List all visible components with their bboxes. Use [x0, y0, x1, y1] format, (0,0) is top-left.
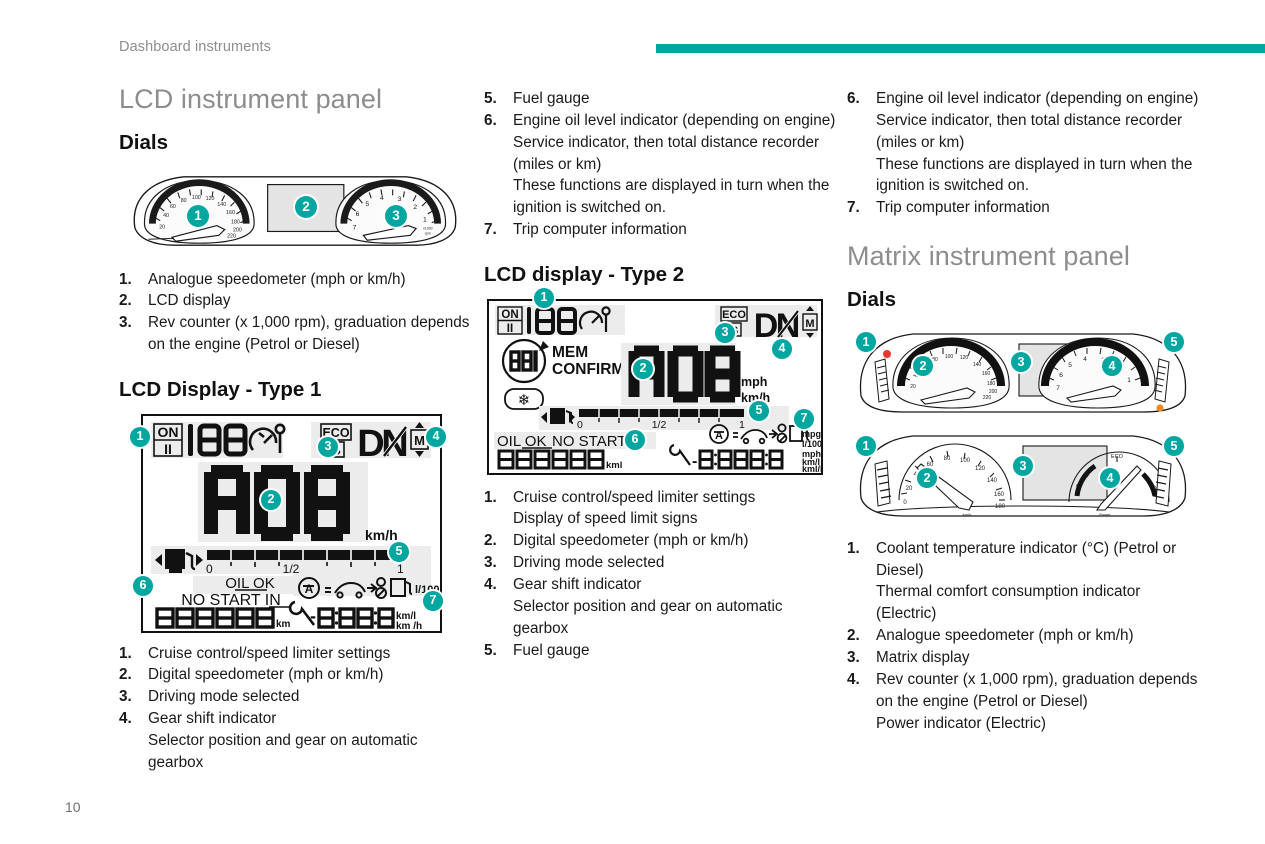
svg-text:160: 160: [994, 492, 1005, 498]
list-text: Engine oil level indicator (depending on…: [876, 90, 1198, 107]
list-item: 5. Fuel gauge: [484, 640, 836, 662]
svg-text:20: 20: [159, 224, 165, 230]
svg-text:140: 140: [217, 202, 226, 208]
heading-lcd-display-type-1: LCD Display - Type 1: [119, 378, 471, 402]
svg-text:km: km: [276, 619, 291, 630]
list-lcd-type-1-continued: 5. Fuel gauge 6. Engine oil level indica…: [484, 88, 836, 241]
callout-1: 1: [534, 288, 554, 308]
svg-text:Power: Power: [1099, 512, 1111, 517]
list-lcd-type-2-continued: 6. Engine oil level indicator (depending…: [847, 88, 1199, 219]
svg-text:120: 120: [975, 466, 986, 472]
callout-5: 5: [389, 542, 409, 562]
list-number: 5.: [484, 640, 506, 662]
svg-text:120: 120: [206, 196, 215, 202]
callout-5: 5: [749, 401, 769, 421]
svg-text:mpg: mpg: [802, 429, 821, 439]
svg-text:5: 5: [1068, 362, 1072, 369]
svg-text:160: 160: [982, 371, 991, 377]
list-text: Trip computer information: [876, 199, 1050, 216]
callout-2: 2: [913, 356, 933, 376]
list-number: 1.: [847, 538, 869, 560]
svg-text:100: 100: [945, 354, 954, 360]
callout-1: 1: [856, 332, 876, 352]
svg-text:D: D: [754, 307, 779, 345]
list-text: Driving mode selected: [513, 554, 664, 571]
svg-text:-: -: [310, 606, 316, 626]
svg-text:180: 180: [987, 381, 996, 387]
list-item: 6. Engine oil level indicator (depending…: [484, 110, 836, 219]
list-subtext: Thermal comfort consumption indicator (E…: [876, 581, 1199, 625]
svg-text:mph: mph: [741, 375, 767, 389]
svg-text:3: 3: [398, 196, 402, 203]
svg-text:7: 7: [353, 224, 357, 231]
list-text: Cruise control/speed limiter settings: [513, 489, 755, 506]
list-text: Fuel gauge: [513, 90, 590, 107]
figure-lcd-type-1: ON II: [141, 414, 438, 629]
svg-text:60: 60: [170, 204, 176, 210]
list-item: 3. Rev counter (x 1,000 rpm), graduation…: [119, 312, 471, 356]
list-lcd-type-2: 1. Cruise control/speed limiter settings…: [484, 487, 836, 662]
svg-text:II: II: [507, 323, 513, 335]
svg-text:20: 20: [906, 486, 913, 492]
svg-text:1: 1: [1127, 377, 1131, 384]
list-item: 7. Trip computer information: [484, 219, 836, 241]
list-item: 3. Matrix display: [847, 647, 1199, 669]
list-text: Analogue speedometer (mph or km/h): [148, 271, 406, 288]
svg-text:km /h: km /h: [396, 621, 422, 631]
list-number: 6.: [847, 88, 869, 110]
svg-text:180: 180: [995, 504, 1006, 510]
list-item: 3. Driving mode selected: [119, 686, 471, 708]
svg-text:CONFIRM: CONFIRM: [552, 361, 624, 378]
header-accent-bar: [656, 44, 1265, 53]
svg-text:A: A: [715, 430, 723, 442]
list-item: 3. Driving mode selected: [484, 552, 836, 574]
svg-text:6: 6: [356, 210, 360, 217]
list-subtext: Service indicator, then total distance r…: [876, 110, 1199, 154]
list-number: 5.: [484, 88, 506, 110]
document-page: Dashboard instruments LCD instrument pan…: [0, 0, 1265, 844]
callout-4: 4: [772, 339, 792, 359]
column-3: 6. Engine oil level indicator (depending…: [847, 84, 1199, 735]
svg-text:x1000: x1000: [423, 226, 433, 230]
page-title: LCD instrument panel: [119, 84, 471, 115]
list-subtext: Selector position and gear on automatic …: [148, 730, 471, 774]
callout-3: 3: [385, 205, 407, 227]
heading-dials: Dials: [119, 131, 471, 155]
svg-text:1: 1: [423, 216, 427, 223]
list-text: Digital speedometer (mph or km/h): [148, 666, 384, 683]
list-item: 6. Engine oil level indicator (depending…: [847, 88, 1199, 197]
list-item: 2. Analogue speedometer (mph or km/h): [847, 625, 1199, 647]
list-text: Trip computer information: [513, 221, 687, 238]
callout-2: 2: [633, 359, 653, 379]
list-number: 6.: [484, 110, 506, 132]
list-item: 1. Analogue speedometer (mph or km/h): [119, 269, 471, 291]
list-number: 1.: [119, 269, 141, 291]
list-text: Matrix display: [876, 649, 970, 666]
list-number: 7.: [847, 197, 869, 219]
list-number: 3.: [119, 686, 141, 708]
svg-text:40: 40: [163, 212, 169, 218]
svg-text:5: 5: [365, 201, 369, 208]
list-text: Rev counter (x 1,000 rpm), graduation de…: [148, 314, 469, 353]
list-subtext: Display of speed limit signs: [513, 508, 836, 530]
heading-matrix-dials: Dials: [847, 288, 1199, 312]
list-item: 4. Gear shift indicator Selector positio…: [119, 708, 471, 774]
svg-text:ECO: ECO: [722, 309, 746, 321]
column-1: LCD instrument panel Dials: [119, 84, 471, 774]
list-item: 2. Digital speedometer (mph or km/h): [119, 664, 471, 686]
list-text: Analogue speedometer (mph or km/h): [876, 627, 1134, 644]
list-item: 4. Rev counter (x 1,000 rpm), graduation…: [847, 669, 1199, 735]
svg-text:80: 80: [932, 357, 938, 363]
svg-text:kml/h: kml/h: [802, 464, 821, 473]
svg-text:4: 4: [380, 195, 384, 202]
callout-4: 4: [1100, 468, 1120, 488]
callout-2: 2: [917, 468, 937, 488]
svg-text:220: 220: [983, 395, 992, 401]
svg-text:NO START IN: NO START IN: [181, 592, 281, 609]
section-title-matrix: Matrix instrument panel: [847, 241, 1199, 272]
svg-text:80: 80: [944, 456, 951, 462]
lcd-type1-panel: ON II: [141, 414, 442, 633]
list-number: 2.: [119, 290, 141, 312]
callout-7: 7: [423, 591, 443, 611]
list-number: 2.: [847, 625, 869, 647]
svg-text:220: 220: [227, 233, 236, 239]
list-number: 7.: [484, 219, 506, 241]
list-subtext-2: These functions are displayed in turn wh…: [513, 175, 836, 219]
svg-text:1/2: 1/2: [283, 562, 300, 576]
lcd-type2-panel: ON II ECO: [487, 299, 823, 475]
list-text: Rev counter (x 1,000 rpm), graduation de…: [876, 671, 1197, 710]
list-item: 2. Digital speedometer (mph or km/h): [484, 530, 836, 552]
svg-text:7: 7: [1056, 385, 1060, 392]
svg-text:km/h: km/h: [963, 512, 972, 517]
callout-1: 1: [130, 427, 150, 447]
svg-text:ON: ON: [158, 424, 179, 440]
list-item: 1. Cruise control/speed limiter settings…: [484, 487, 836, 531]
list-text: Coolant temperature indicator (°C) (Petr…: [876, 540, 1176, 579]
list-number: 3.: [484, 552, 506, 574]
list-matrix-dials: 1. Coolant temperature indicator (°C) (P…: [847, 538, 1199, 735]
svg-text:0: 0: [206, 562, 213, 576]
svg-text:20: 20: [910, 384, 916, 390]
callout-4: 4: [426, 427, 446, 447]
figure-lcd-dials: 204060 80100120 140160180 200220: [119, 167, 471, 253]
svg-text:60: 60: [927, 462, 934, 468]
figure-lcd-type-2: ON II ECO: [487, 299, 819, 471]
svg-text:160: 160: [226, 209, 235, 215]
svg-text:180: 180: [231, 219, 240, 225]
matrix-cluster-illustration-electric: 02040 6080100 120140160 180 km/h: [847, 428, 1199, 524]
list-text: Engine oil level indicator (depending on…: [513, 112, 835, 129]
list-item: 7. Trip computer information: [847, 197, 1199, 219]
list-lcd-dials: 1. Analogue speedometer (mph or km/h) 2.…: [119, 269, 471, 356]
callout-5: 5: [1164, 332, 1184, 352]
list-item: 1. Cruise control/speed limiter settings: [119, 643, 471, 665]
list-number: 4.: [119, 708, 141, 730]
svg-text:1: 1: [397, 562, 404, 576]
list-number: 1.: [119, 643, 141, 665]
list-text: Fuel gauge: [513, 642, 590, 659]
svg-text:l/100: l/100: [802, 439, 821, 449]
list-number: 3.: [847, 647, 869, 669]
svg-text:140: 140: [987, 478, 998, 484]
svg-text:M: M: [805, 318, 814, 330]
heading-lcd-display-type-2: LCD display - Type 2: [484, 263, 836, 287]
page-number: 10: [65, 799, 81, 815]
callout-5: 5: [1164, 436, 1184, 456]
callout-2: 2: [295, 196, 317, 218]
callout-3: 3: [1011, 352, 1031, 372]
callout-1: 1: [856, 436, 876, 456]
list-item: 2. LCD display: [119, 290, 471, 312]
list-subtext: Power indicator (Electric): [876, 713, 1199, 735]
svg-text:1: 1: [739, 419, 745, 431]
svg-text:km/h: km/h: [365, 527, 398, 543]
svg-text:II: II: [164, 441, 172, 457]
callout-7: 7: [794, 409, 814, 429]
svg-text:6: 6: [1059, 372, 1063, 379]
figure-matrix-dials-petrol: 204060 80100120 140160180 200220: [847, 324, 1199, 420]
list-number: 4.: [484, 574, 506, 596]
list-number: 3.: [119, 312, 141, 334]
callout-6: 6: [625, 430, 645, 450]
list-number: 2.: [119, 664, 141, 686]
matrix-cluster-illustration-petrol: 204060 80100120 140160180 200220: [847, 324, 1199, 420]
list-text: Digital speedometer (mph or km/h): [513, 532, 749, 549]
svg-text:80: 80: [181, 198, 187, 204]
list-subtext: Selector position and gear on automatic …: [513, 596, 836, 640]
figure-matrix-dials-electric: 02040 6080100 120140160 180 km/h: [847, 428, 1199, 524]
running-head: Dashboard instruments: [119, 39, 271, 55]
svg-text:A: A: [305, 582, 314, 596]
list-text: Gear shift indicator: [148, 710, 276, 727]
svg-text:4: 4: [1083, 356, 1087, 363]
list-item: 4. Gear shift indicator Selector positio…: [484, 574, 836, 640]
svg-text:0: 0: [577, 419, 583, 431]
callout-2: 2: [261, 490, 281, 510]
callout-1: 1: [187, 205, 209, 227]
svg-text:100: 100: [192, 195, 201, 201]
list-number: 2.: [484, 530, 506, 552]
svg-text:rpm: rpm: [425, 231, 431, 235]
svg-text:2: 2: [413, 204, 417, 211]
svg-text:-: -: [692, 453, 697, 470]
list-text: Gear shift indicator: [513, 576, 641, 593]
callout-3: 3: [318, 437, 338, 457]
svg-text:❄: ❄: [518, 391, 531, 409]
svg-text:M: M: [414, 433, 425, 448]
svg-text:MEM: MEM: [552, 344, 588, 361]
list-subtext-2: These functions are displayed in turn wh…: [876, 154, 1199, 198]
callout-6: 6: [133, 576, 153, 596]
callout-4: 4: [1102, 356, 1122, 376]
svg-text:140: 140: [973, 362, 982, 368]
list-lcd-type-1: 1. Cruise control/speed limiter settings…: [119, 643, 471, 774]
svg-text:ON: ON: [501, 309, 518, 321]
list-number: 1.: [484, 487, 506, 509]
list-subtext: Service indicator, then total distance r…: [513, 132, 836, 176]
callout-3: 3: [1013, 456, 1033, 476]
svg-text:1/2: 1/2: [652, 419, 667, 431]
list-text: Driving mode selected: [148, 688, 299, 705]
svg-text:kml: kml: [606, 460, 622, 471]
list-item: 1. Coolant temperature indicator (°C) (P…: [847, 538, 1199, 625]
list-text: LCD display: [148, 292, 230, 309]
list-item: 5. Fuel gauge: [484, 88, 836, 110]
list-number: 4.: [847, 669, 869, 691]
column-2: 5. Fuel gauge 6. Engine oil level indica…: [484, 84, 836, 661]
callout-3: 3: [715, 323, 735, 343]
svg-text:120: 120: [960, 355, 969, 361]
svg-text:100: 100: [960, 458, 971, 464]
list-text: Cruise control/speed limiter settings: [148, 645, 390, 662]
